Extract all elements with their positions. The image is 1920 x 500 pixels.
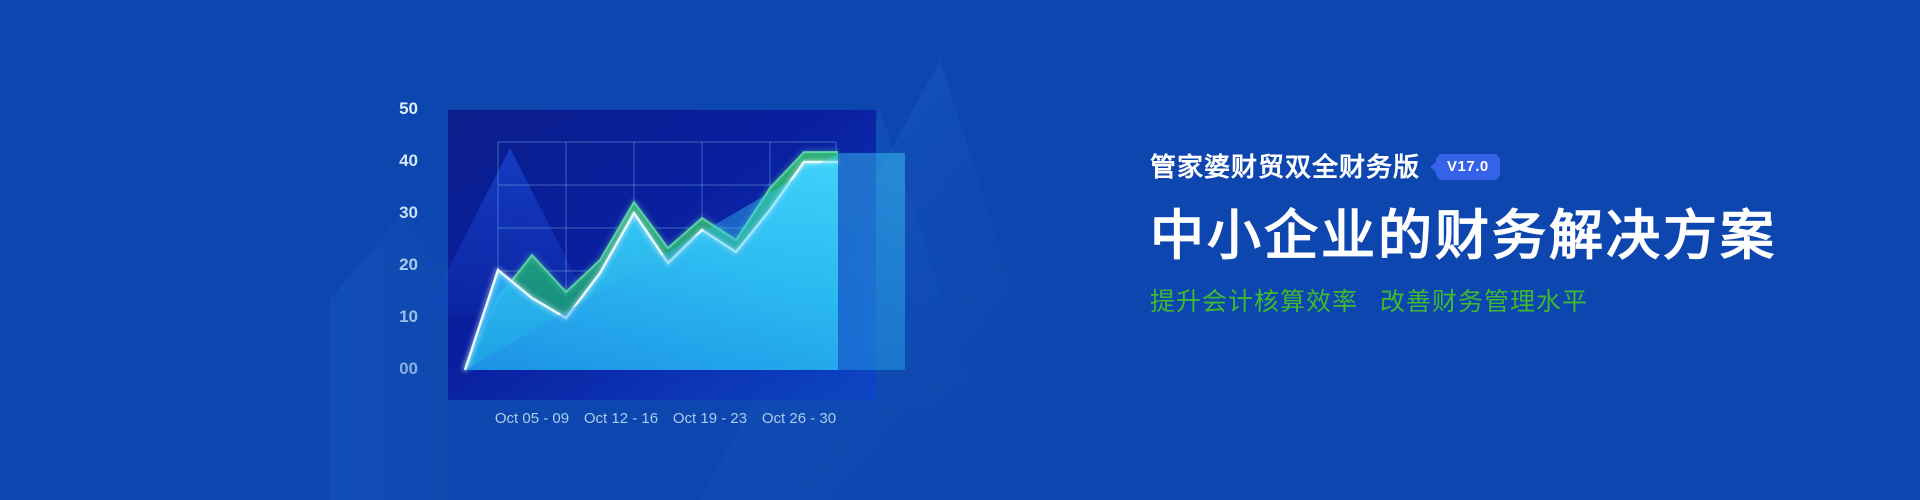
brand-title: 管家婆财贸双全财务版	[1150, 150, 1420, 184]
y-tick-label: 50	[399, 99, 418, 118]
subtitle-part-1: 提升会计核算效率	[1150, 288, 1358, 316]
headline: 中小企业的财务解决方案	[1150, 208, 1850, 265]
x-tick-label: Oct 19 - 23	[673, 410, 747, 427]
chart-y-axis: 50 40 30 20 10 00	[399, 99, 418, 378]
subtitle: 提升会计核算效率改善财务管理水平	[1150, 287, 1850, 317]
y-tick-label: 20	[399, 255, 418, 274]
promo-banner: 50 40 30 20 10 00 Oct 05 - 09 Oct 12 - 1…	[0, 0, 1920, 500]
version-badge: V17.0	[1436, 154, 1500, 180]
y-tick-label: 10	[399, 307, 418, 326]
y-tick-label: 40	[399, 151, 418, 170]
brand-row: 管家婆财贸双全财务版 V17.0	[1150, 150, 1850, 184]
analytics-chart: 50 40 30 20 10 00 Oct 05 - 09 Oct 12 - 1…	[360, 70, 1000, 430]
chart-svg: 50 40 30 20 10 00 Oct 05 - 09 Oct 12 - 1…	[360, 70, 1000, 430]
x-tick-label: Oct 12 - 16	[584, 410, 658, 427]
x-tick-label: Oct 26 - 30	[762, 410, 836, 427]
chart-x-axis: Oct 05 - 09 Oct 12 - 16 Oct 19 - 23 Oct …	[495, 410, 836, 427]
subtitle-part-2: 改善财务管理水平	[1380, 288, 1588, 316]
copy-block: 管家婆财贸双全财务版 V17.0 中小企业的财务解决方案 提升会计核算效率改善财…	[1150, 150, 1850, 317]
y-tick-label: 30	[399, 203, 418, 222]
y-tick-label: 00	[399, 359, 418, 378]
x-tick-label: Oct 05 - 09	[495, 410, 569, 427]
